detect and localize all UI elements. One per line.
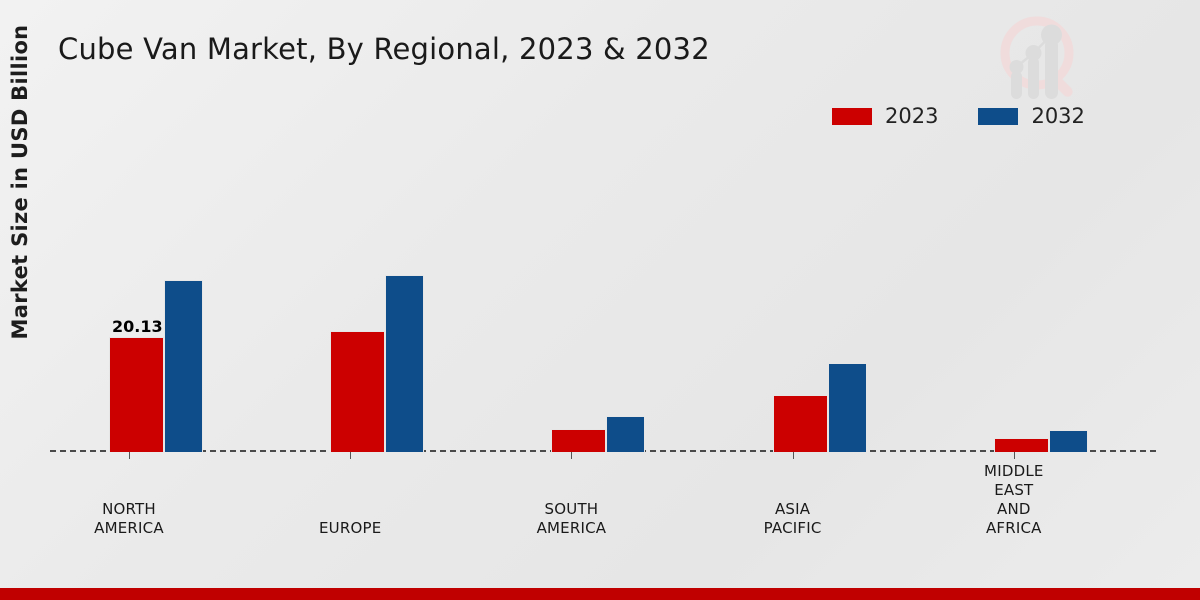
category-label-line: PACIFIC [714,519,872,538]
y-axis-title: Market Size in USD Billion [8,12,32,352]
x-axis-tick [1014,452,1015,459]
legend-label-2032: 2032 [1031,104,1084,128]
bar-group: MIDDLEEASTANDAFRICA [935,151,1156,452]
legend-item-2023[interactable]: 2023 [832,104,938,128]
x-axis-category-label: MIDDLEEASTANDAFRICA [935,462,1093,538]
x-axis-tick [793,452,794,459]
bar-2032[interactable] [164,280,203,452]
x-axis-category-label: EUROPE [271,519,429,538]
bars-wrapper [994,430,1088,452]
legend-swatch-2023 [832,108,872,125]
bar-2023[interactable] [551,429,606,452]
category-label-line: SOUTH [492,500,650,519]
bars-wrapper [773,363,867,452]
chart-legend: 2023 2032 [832,104,1085,128]
category-label-line: EAST [935,481,1093,500]
plot-area: 20.13NORTHAMERICAEUROPESOUTHAMERICAASIAP… [50,150,1156,452]
bar-2032[interactable] [1049,430,1088,452]
bar-group: ASIAPACIFIC [714,151,935,452]
x-axis-category-label: SOUTHAMERICA [492,500,650,538]
category-label-line: MIDDLE [935,462,1093,481]
bar-group: SOUTHAMERICA [492,151,713,452]
x-axis-tick [350,452,351,459]
x-axis-tick [129,452,130,459]
bar-chart-glyph [1010,25,1063,100]
category-label-line: AFRICA [935,519,1093,538]
bar-2032[interactable] [828,363,867,452]
bars-wrapper: 20.13 [109,280,203,452]
bar-2023[interactable]: 20.13 [109,337,164,452]
bar-2032[interactable] [385,275,424,452]
category-label-line: AMERICA [492,519,650,538]
category-label-line: AND [935,500,1093,519]
bar-2032[interactable] [606,416,645,452]
bar-2023[interactable] [994,438,1049,452]
bar-value-label: 20.13 [112,317,163,336]
x-axis-category-label: ASIAPACIFIC [714,500,872,538]
legend-item-2032[interactable]: 2032 [978,104,1084,128]
magnifier-ring-icon [1005,21,1075,99]
bars-wrapper [551,416,645,452]
bar-group: 20.13NORTHAMERICA [50,151,271,452]
page-title: Cube Van Market, By Regional, 2023 & 203… [58,32,710,66]
category-label-line: ASIA [714,500,872,519]
legend-swatch-2032 [978,108,1018,125]
bar-2023[interactable] [330,331,385,452]
legend-label-2023: 2023 [885,104,938,128]
category-label-line: AMERICA [50,519,208,538]
bars-wrapper [330,275,424,452]
bar-groups: 20.13NORTHAMERICAEUROPESOUTHAMERICAASIAP… [50,151,1156,452]
bar-2023[interactable] [773,395,828,452]
category-label-line: NORTH [50,500,208,519]
watermark-logo [985,5,1095,105]
x-axis-category-label: NORTHAMERICA [50,500,208,538]
bottom-accent-stripe [0,588,1200,600]
bar-group: EUROPE [271,151,492,452]
category-label-line: EUROPE [271,519,429,538]
x-axis-tick [571,452,572,459]
